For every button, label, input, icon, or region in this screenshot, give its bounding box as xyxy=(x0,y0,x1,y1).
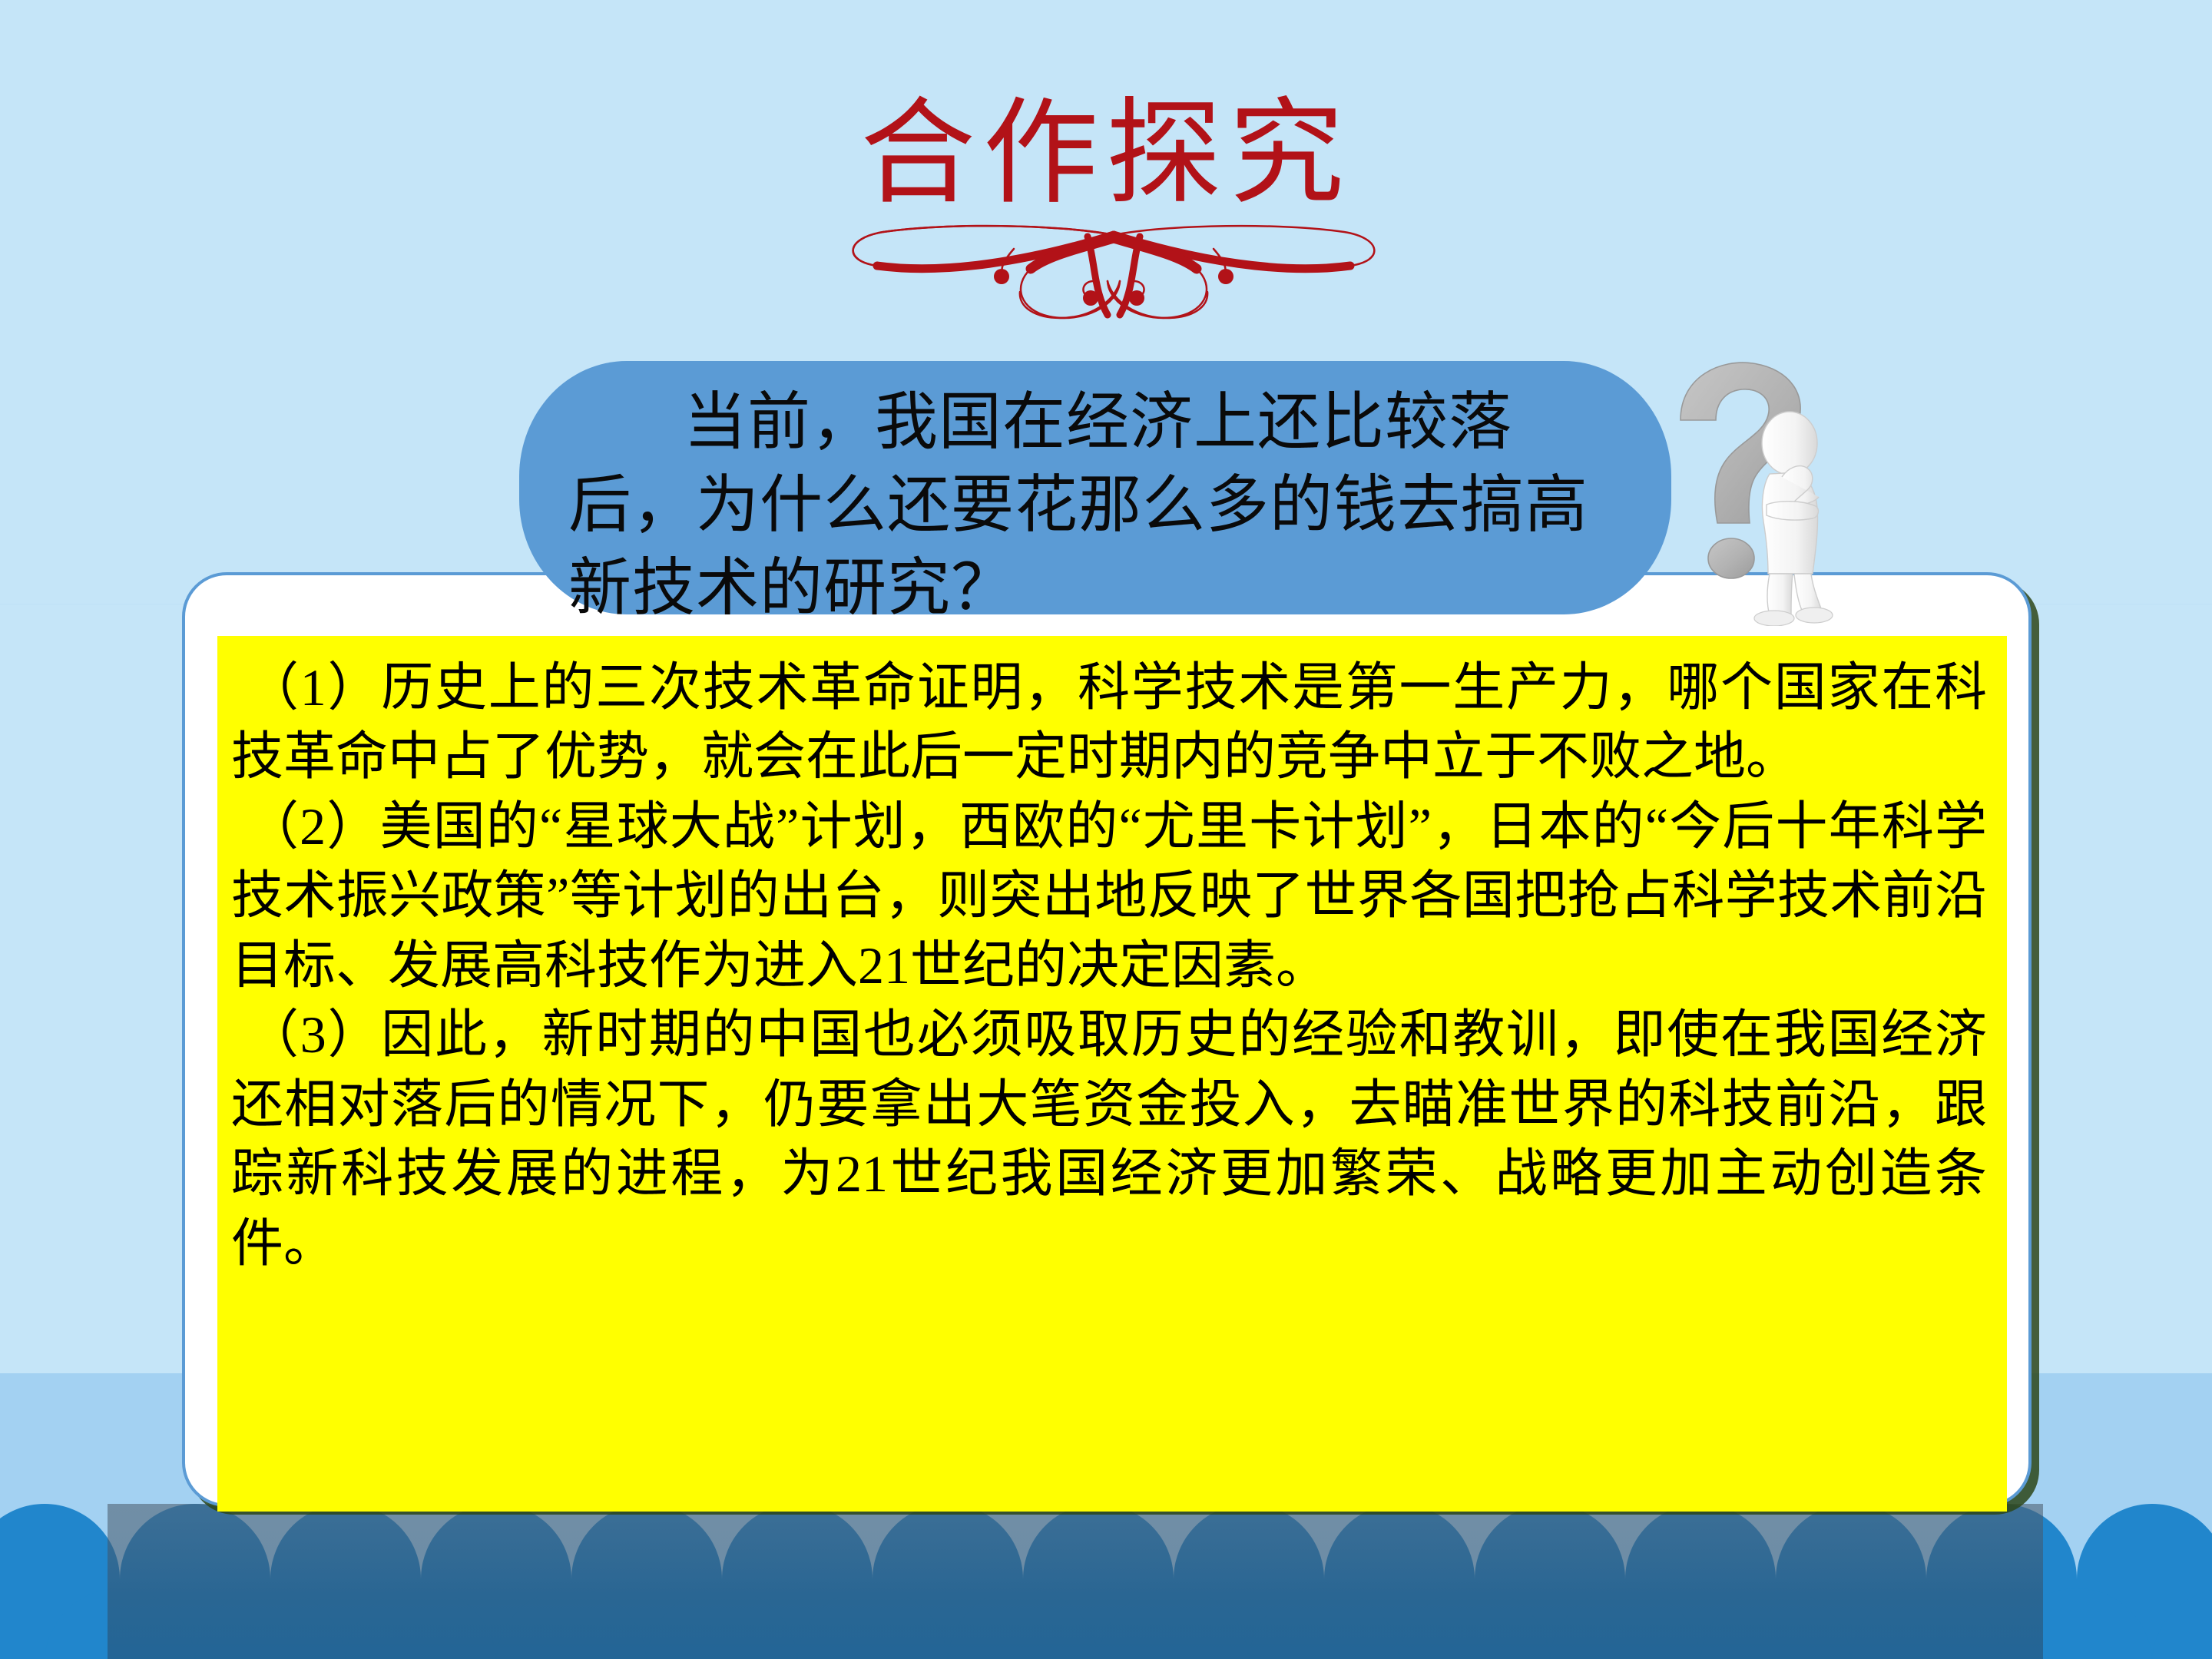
scallop-shape xyxy=(346,1588,496,1659)
answer-paragraph-1: （1）历史上的三次技术革命证明，科学技术是第一生产力，哪个国家在科技革命中占了优… xyxy=(231,653,1987,792)
question-speech-bubble: 当前，我国在经济上还比较落后，为什么还要花那么多的钱去搞高新技术的研究？ xyxy=(519,361,1671,614)
question-text: 当前，我国在经济上还比较落后，为什么还要花那么多的钱去搞高新技术的研究？ xyxy=(568,381,1636,631)
scallop-shape xyxy=(1249,1588,1399,1659)
page-title-block: 合作探究 xyxy=(0,92,2212,217)
scallop-shape xyxy=(1399,1588,1550,1659)
scallop-shape xyxy=(647,1588,797,1659)
scallop-shape xyxy=(797,1588,948,1659)
scallop-shape xyxy=(45,1588,195,1659)
scallop-shape xyxy=(948,1588,1098,1659)
scallop-shape xyxy=(1851,1588,2002,1659)
scallop-shape xyxy=(496,1588,647,1659)
answer-paragraph-3: （3）因此，新时期的中国也必须吸取历史的经验和教训，即使在我国经济还相对落后的情… xyxy=(231,1000,1987,1278)
answer-paragraph-2: （2）美国的“星球大战”计划，西欧的“尤里卡计划”，日本的“今后十年科学技术振兴… xyxy=(231,792,1987,1000)
scallop-shape xyxy=(195,1588,346,1659)
page-title: 合作探究 xyxy=(0,92,2212,217)
scallop-shape xyxy=(1098,1588,1249,1659)
scallop-row-lower xyxy=(0,1588,2212,1659)
scallop-shape xyxy=(1700,1588,1851,1659)
scallop-shape xyxy=(2152,1588,2212,1659)
scallop-shape xyxy=(1550,1588,1700,1659)
scallop-shape xyxy=(2002,1588,2152,1659)
answer-highlight-block: （1）历史上的三次技术革命证明，科学技术是第一生产力，哪个国家在科技革命中占了优… xyxy=(217,636,2007,1512)
slide-canvas: 合作探究 xyxy=(0,0,2212,1659)
thinking-person-question-mark-icon xyxy=(1651,357,1882,626)
flourish-divider-icon xyxy=(829,221,1398,336)
